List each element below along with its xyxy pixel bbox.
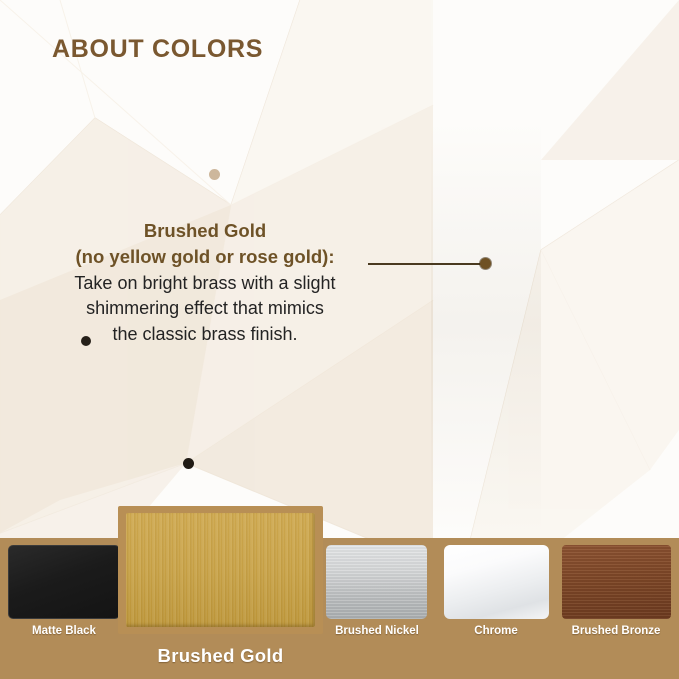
brushed-gold-panel [431, 0, 541, 541]
callout-leader-line [368, 263, 486, 265]
callout-heading-line-1: Brushed Gold [40, 218, 370, 244]
swatch-matte-black[interactable] [8, 545, 120, 619]
callout-heading-line-2: (no yellow gold or rose gold): [40, 244, 370, 270]
swatch-label-brushed-gold: Brushed Gold [118, 645, 323, 667]
swatch-label-matte-black: Matte Black [0, 625, 128, 637]
decorative-dot-icon-left [81, 336, 91, 346]
swatch-label-brushed-nickel: Brushed Nickel [310, 625, 444, 637]
swatch-brushed-bronze[interactable] [562, 545, 671, 619]
decorative-dot-icon-lower [183, 458, 194, 469]
swatch-chrome[interactable] [444, 545, 549, 619]
callout-body-line-2: shimmering effect that mimics [40, 296, 370, 322]
swatch-brushed-nickel[interactable] [326, 545, 427, 619]
swatch-label-brushed-bronze: Brushed Bronze [552, 625, 679, 637]
about-colors-infographic: ABOUT COLORS Brushed Gold (no yellow gol… [0, 0, 679, 679]
callout-text-block: Brushed Gold (no yellow gold or rose gol… [40, 218, 370, 347]
swatch-label-chrome: Chrome [440, 625, 552, 637]
decorative-dot-icon-top [209, 169, 220, 180]
page-title: ABOUT COLORS [52, 35, 263, 64]
callout-body-line-1: Take on bright brass with a slight [40, 271, 370, 297]
callout-target-dot-icon [480, 258, 491, 269]
swatch-brushed-gold[interactable] [126, 513, 315, 627]
